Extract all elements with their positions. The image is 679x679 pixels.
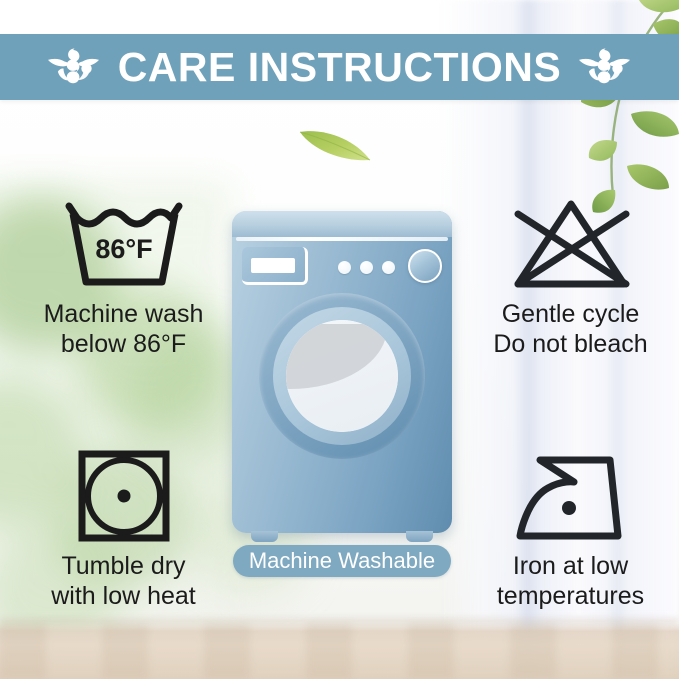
- header-banner: CARE INSTRUCTIONS: [0, 34, 679, 100]
- machine-foot: [406, 531, 433, 542]
- fleur-de-lis-icon: [46, 44, 102, 90]
- instruction-caption: Gentle cycle Do not bleach: [493, 300, 647, 359]
- background-wooden-table: [0, 623, 679, 679]
- detergent-drawer-slot: [251, 258, 295, 273]
- indicator-dot: [382, 261, 395, 274]
- machine-top-panel: [232, 211, 452, 237]
- fleur-de-lis-icon: [577, 44, 633, 90]
- indicator-dot: [360, 261, 373, 274]
- instruction-caption: Iron at low temperatures: [497, 552, 644, 611]
- machine-top-divider: [236, 237, 448, 241]
- iron-one-dot-icon: [506, 448, 636, 544]
- wash-tub-icon: 86°F: [59, 196, 189, 292]
- machine-foot: [251, 531, 278, 542]
- machine-door: [259, 293, 425, 459]
- badge-label: Machine Washable: [249, 550, 435, 572]
- machine-washable-badge: Machine Washable: [233, 545, 451, 577]
- instruction-machine-wash: 86°F Machine wash below 86°F: [16, 196, 231, 359]
- triangle-crossed-bleach-icon: [506, 196, 636, 292]
- instruction-caption: Machine wash below 86°F: [44, 300, 204, 359]
- detergent-drawer: [242, 247, 308, 285]
- green-leaf-icon: [296, 122, 374, 166]
- instruction-do-not-bleach: Gentle cycle Do not bleach: [468, 196, 673, 359]
- machine-door-ring: [273, 307, 411, 445]
- washing-machine-illustration: [232, 211, 452, 533]
- program-knob: [408, 249, 442, 283]
- care-instructions-infographic: CARE INSTRUCTIONS 86°F Machine wash belo…: [0, 0, 679, 679]
- machine-door-glass: [286, 320, 398, 432]
- indicator-dot: [338, 261, 351, 274]
- instruction-caption: Tumble dry with low heat: [51, 552, 196, 611]
- page-title: CARE INSTRUCTIONS: [114, 47, 566, 88]
- instruction-iron-low: Iron at low temperatures: [468, 448, 673, 611]
- tumble-dry-low-icon: [74, 448, 174, 544]
- wash-temperature-value: 86°F: [95, 234, 152, 264]
- instruction-tumble-dry: Tumble dry with low heat: [16, 448, 231, 611]
